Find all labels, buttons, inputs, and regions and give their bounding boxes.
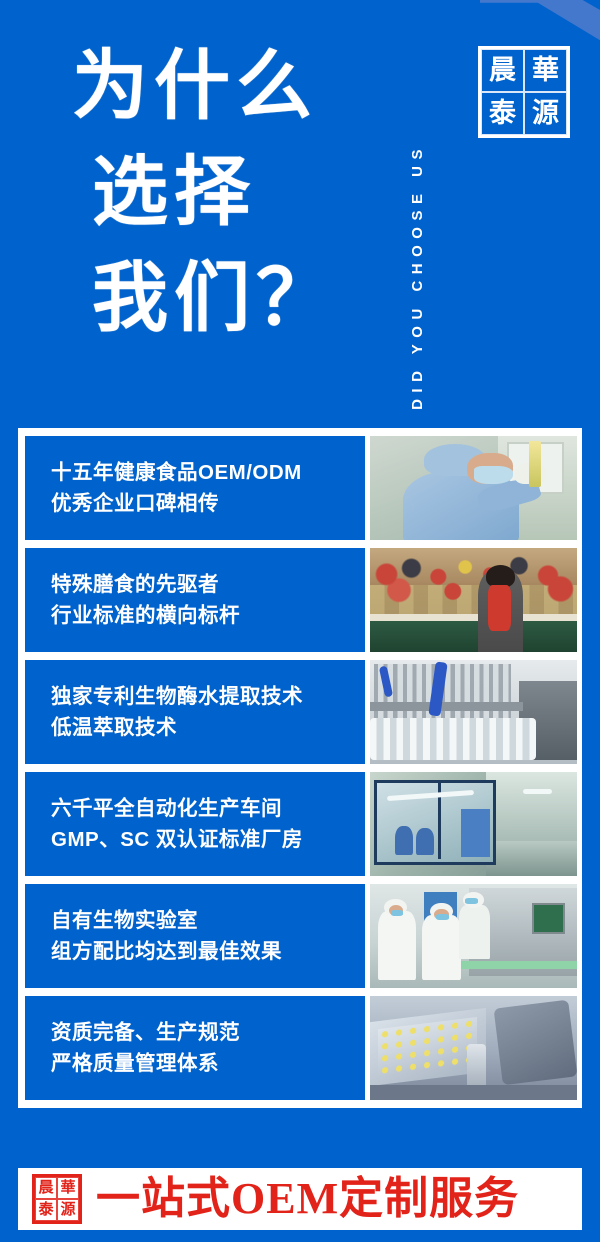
feature-line-2: 低温萃取技术 (51, 712, 365, 743)
feature-line-1: 特殊膳食的先驱者 (51, 569, 365, 600)
feature-line-2: 组方配比均达到最佳效果 (51, 936, 365, 967)
feature-row: 特殊膳食的先驱者 行业标准的横向标杆 (18, 548, 582, 652)
footer-slogan: 一站式OEM定制服务 (96, 1174, 519, 1224)
conference-audience-photo (370, 548, 577, 652)
photo-art (370, 436, 577, 540)
vertical-subtitle-text: DID YOU CHOOSE US (409, 143, 426, 410)
feature-text-card: 十五年健康食品OEM/ODM 优秀企业口碑相传 (25, 436, 365, 540)
footer-seal-char-2: 華 (57, 1177, 79, 1199)
cleanroom-corridor-photo (370, 772, 577, 876)
seal-char-3: 泰 (481, 92, 524, 135)
seal-char-2: 華 (524, 49, 567, 92)
feature-line-1: 自有生物实验室 (51, 905, 365, 936)
feature-row: 资质完备、生产规范 严格质量管理体系 (18, 996, 582, 1100)
lab-technician-vial-photo (370, 436, 577, 540)
feature-text-card: 特殊膳食的先驱者 行业标准的横向标杆 (25, 548, 365, 652)
photo-art (370, 548, 577, 652)
feature-row: 独家专利生物酶水提取技术 低温萃取技术 (18, 660, 582, 764)
photo-art (370, 884, 577, 988)
feature-row: 六千平全自动化生产车间 GMP、SC 双认证标准厂房 (18, 772, 582, 876)
page-title-line-2: 选择 (72, 140, 338, 246)
feature-line-1: 独家专利生物酶水提取技术 (51, 681, 365, 712)
feature-row: 十五年健康食品OEM/ODM 优秀企业口碑相传 (18, 436, 582, 540)
photo-art (370, 660, 577, 764)
photo-art (370, 996, 577, 1100)
footer-seal-char-4: 源 (57, 1199, 79, 1221)
white-coat-technicians-photo (370, 884, 577, 988)
feature-line-1: 资质完备、生产规范 (51, 1017, 365, 1048)
footer-seal-char-1: 晨 (35, 1177, 57, 1199)
photo-art (370, 772, 577, 876)
seal-char-4: 源 (524, 92, 567, 135)
feature-row: 自有生物实验室 组方配比均达到最佳效果 (18, 884, 582, 988)
hero-section: WHY 为什么 选择 我们？ DID YOU CHOOSE US 晨 華 泰 源 (0, 0, 600, 428)
page-title-line-1: 为什么 (72, 45, 318, 129)
feature-text-card: 自有生物实验室 组方配比均达到最佳效果 (25, 884, 365, 988)
poster-root: WHY 为什么 选择 我们？ DID YOU CHOOSE US 晨 華 泰 源… (0, 0, 600, 1242)
feature-line-2: 行业标准的横向标杆 (51, 600, 365, 631)
blister-packaging-photo (370, 996, 577, 1100)
feature-line-2: 严格质量管理体系 (51, 1048, 365, 1079)
feature-line-1: 十五年健康食品OEM/ODM (51, 457, 365, 488)
page-title-line-3: 我们？ (72, 246, 338, 352)
feature-line-2: GMP、SC 双认证标准厂房 (51, 824, 365, 855)
vertical-subtitle: DID YOU CHOOSE US (404, 10, 430, 410)
company-seal-logo: 晨 華 泰 源 (478, 46, 570, 138)
footer-seal-char-3: 泰 (35, 1199, 57, 1221)
feature-line-1: 六千平全自动化生产车间 (51, 793, 365, 824)
feature-line-2: 优秀企业口碑相传 (51, 488, 365, 519)
footer-company-seal-logo: 晨 華 泰 源 (32, 1174, 82, 1224)
seal-char-1: 晨 (481, 49, 524, 92)
footer-banner: 晨 華 泰 源 一站式OEM定制服务 (18, 1168, 582, 1230)
feature-text-card: 资质完备、生产规范 严格质量管理体系 (25, 996, 365, 1100)
feature-list-panel: 十五年健康食品OEM/ODM 优秀企业口碑相传 特殊膳食的先驱者 行业标准的横向… (18, 428, 582, 1108)
filling-machinery-photo (370, 660, 577, 764)
page-title: 为什么 选择 我们？ (72, 34, 338, 352)
feature-text-card: 六千平全自动化生产车间 GMP、SC 双认证标准厂房 (25, 772, 365, 876)
why-watermark-text: WHY (453, 0, 600, 10)
feature-text-card: 独家专利生物酶水提取技术 低温萃取技术 (25, 660, 365, 764)
